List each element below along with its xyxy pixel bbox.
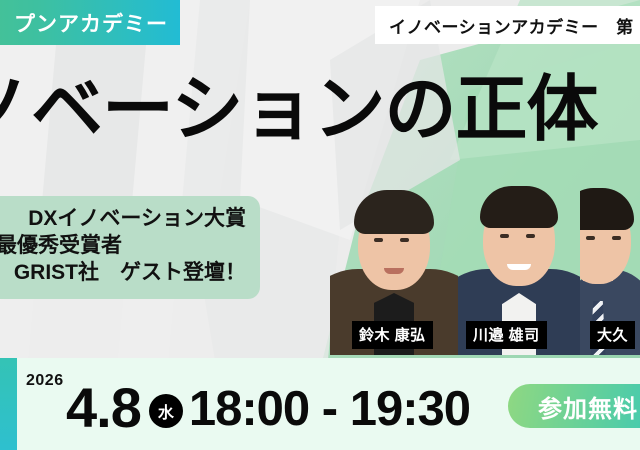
seminar-banner: プンアカデミー イノベーションアカデミー 第 ノベーションの正体 鈴木 康弘 xyxy=(0,0,640,450)
schedule-day-of-week-badge: 水 xyxy=(149,394,183,428)
main-title: ノベーションの正体 xyxy=(0,74,598,146)
schedule-accent-bar xyxy=(0,358,17,450)
free-entry-button[interactable]: 参加無料 xyxy=(508,384,640,428)
callout-line-1: DXイノベーション大賞 xyxy=(0,206,246,233)
schedule-bar: 2026 4.8 水 18:00 - 19:30 参加無料 xyxy=(0,358,640,450)
speaker-name-plate-2: 川邉 雄司 xyxy=(466,321,547,349)
callout-line-2: 最優秀受賞者 xyxy=(0,233,246,260)
header-title: イノベーションアカデミー 第 xyxy=(389,13,634,38)
speaker-photo-2: 川邉 雄司 xyxy=(458,160,580,355)
speaker-name-plate-3: 大久 xyxy=(590,321,635,349)
schedule-content: 2026 4.8 水 18:00 - 19:30 xyxy=(26,358,470,450)
speaker-photo-1: 鈴木 康弘 xyxy=(330,160,458,355)
free-entry-button-label: 参加無料 xyxy=(538,389,638,424)
header-band: イノベーションアカデミー 第 xyxy=(375,6,640,44)
open-academy-badge-label: プンアカデミー xyxy=(14,8,168,38)
award-callout-box: DXイノベーション大賞 最優秀受賞者 GRIST社 ゲスト登壇！ xyxy=(0,196,260,299)
callout-line-3: GRIST社 ゲスト登壇！ xyxy=(0,260,246,287)
speaker-photo-3: 大久 xyxy=(580,160,640,355)
speaker-photo-strip: 鈴木 康弘 川邉 雄司 xyxy=(330,160,640,355)
schedule-date: 4.8 xyxy=(66,380,141,436)
schedule-year: 2026 xyxy=(26,372,64,390)
open-academy-badge: プンアカデミー xyxy=(0,0,180,45)
speaker-name-plate-1: 鈴木 康弘 xyxy=(352,321,433,349)
schedule-time: 18:00 - 19:30 xyxy=(189,385,470,434)
